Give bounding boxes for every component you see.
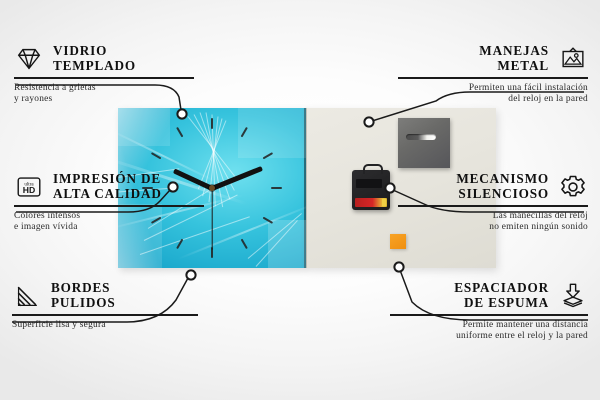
feature-title-line2: METAL <box>479 59 549 74</box>
feature-title-line1: MECANISMO <box>456 172 549 187</box>
feature-title-line1: VIDRIO <box>53 44 136 59</box>
feature-title-line2: PULIDOS <box>51 296 116 311</box>
hour-tick <box>151 152 162 159</box>
feature-mecanismo-silencioso: MECANISMO SILENCIOSO Las manecillas del … <box>398 172 588 234</box>
battery-terminal <box>382 199 386 206</box>
feature-divider <box>14 205 204 207</box>
gear-icon <box>558 172 588 202</box>
feature-subtitle-line1: Resistencia a grietas <box>14 83 194 95</box>
feature-subtitle-line1: Colores intensos <box>14 211 204 223</box>
feature-subtitle-line2: uniforme entre el reloj y la pared <box>390 331 588 343</box>
feature-title-line1: MANEJAS <box>479 44 549 59</box>
polished-edge-icon <box>12 281 42 311</box>
quartz-mechanism <box>352 170 390 210</box>
feature-manejas-metal: MANEJAS METAL Permiten una fácil instala… <box>398 44 588 106</box>
hour-tick <box>271 187 282 189</box>
metal-hanger-plate <box>398 118 450 168</box>
battery-compartment <box>355 198 387 207</box>
feature-divider <box>398 205 588 207</box>
hanger-keyhole-slot <box>406 134 436 140</box>
feature-bordes-pulidos: BORDES PULIDOS Superficie lisa y segura <box>12 281 198 331</box>
feature-divider <box>398 77 588 79</box>
clock-center-cap <box>209 185 215 191</box>
clock-second-hand <box>211 188 212 250</box>
feature-divider <box>14 77 194 79</box>
clock-minute-hand <box>211 165 263 190</box>
hour-tick <box>176 127 183 138</box>
feature-subtitle-line1: Superficie lisa y segura <box>12 320 198 332</box>
feature-divider <box>12 314 198 316</box>
hour-tick <box>211 118 213 129</box>
feature-divider <box>390 314 588 316</box>
feature-subtitle-line1: Permiten una fácil instalación <box>398 83 588 95</box>
feature-subtitle-line1: Las manecillas del reloj <box>398 211 588 223</box>
picture-hanger-icon <box>558 44 588 74</box>
feature-subtitle-line1: Permite mantener una distancia <box>390 320 588 332</box>
ultra-hd-icon: ultra HD <box>14 172 44 202</box>
svg-text:HD: HD <box>23 185 35 195</box>
feature-title-line2: SILENCIOSO <box>456 187 549 202</box>
feature-title-line2: TEMPLADO <box>53 59 136 74</box>
feature-title-line1: ESPACIADOR <box>454 281 549 296</box>
feature-subtitle-line2: e imagen vívida <box>14 222 204 234</box>
hour-tick <box>176 239 183 250</box>
feature-title-line1: BORDES <box>51 281 116 296</box>
feature-subtitle-line2: del reloj en la pared <box>398 94 588 106</box>
mechanism-housing <box>356 179 382 188</box>
feature-subtitle-line2: y rayones <box>14 94 194 106</box>
hour-tick <box>241 239 248 250</box>
feature-impresion-alta-calidad: ultra HD IMPRESIÓN DE ALTA CALIDAD Color… <box>14 172 204 234</box>
foam-spacer-icon <box>558 281 588 311</box>
feature-title-line2: ALTA CALIDAD <box>53 187 162 202</box>
infographic-canvas: VIDRIO TEMPLADO Resistencia a grietas y … <box>0 0 600 400</box>
foam-spacer-pad <box>390 234 406 249</box>
feature-vidrio-templado: VIDRIO TEMPLADO Resistencia a grietas y … <box>14 44 194 106</box>
diamond-icon <box>14 44 44 74</box>
hour-tick <box>263 217 274 224</box>
feature-espaciador-espuma: ESPACIADOR DE ESPUMA Permite mantener un… <box>390 281 588 343</box>
feature-title-line2: DE ESPUMA <box>454 296 549 311</box>
mechanism-hook <box>363 164 383 174</box>
hour-tick <box>241 127 248 138</box>
leader-dot-bordes <box>186 270 195 279</box>
feature-subtitle-line2: no emiten ningún sonido <box>398 222 588 234</box>
feature-title-line1: IMPRESIÓN DE <box>53 172 162 187</box>
hour-tick <box>263 152 274 159</box>
